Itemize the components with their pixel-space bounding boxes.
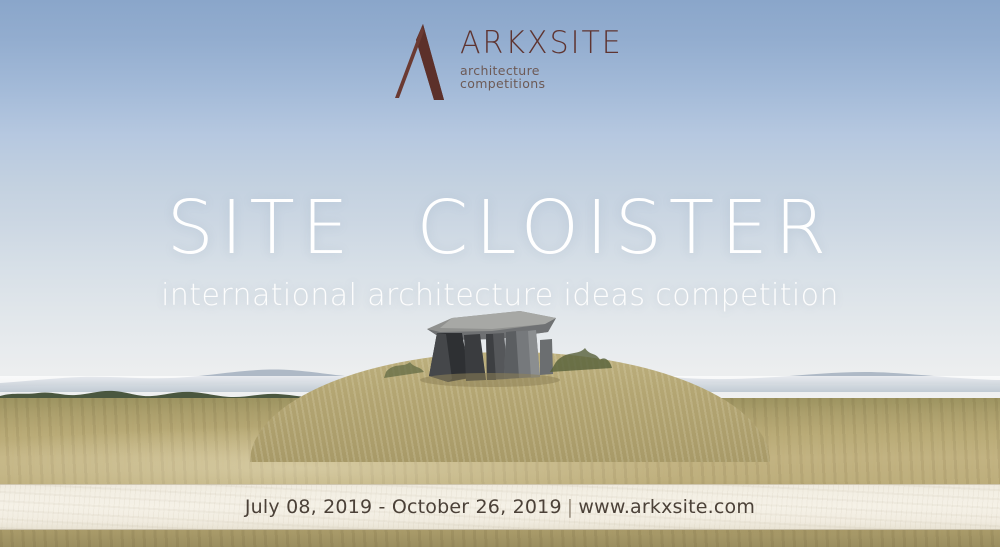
footer-text-line: July 08, 2019 - October 26, 2019|www.ark…	[245, 496, 755, 518]
headline-block: SITE CLOISTER international architecture…	[0, 191, 1000, 311]
brand-tagline: architecture competitions	[460, 65, 628, 90]
footer-divider: |	[562, 496, 579, 518]
page-subtitle: international architecture ideas competi…	[0, 281, 1000, 311]
date-range-separator: -	[372, 496, 392, 518]
arkxsite-logo[interactable]: ARKXSITE architecture competitions	[392, 22, 628, 104]
website-link[interactable]: www.arkxsite.com	[578, 496, 755, 518]
arkxsite-a-mark-icon	[392, 22, 454, 104]
competition-start-date: July 08, 2019	[245, 496, 372, 518]
logo-text-block: ARKXSITE architecture competitions	[460, 22, 628, 90]
competition-end-date: October 26, 2019	[392, 496, 562, 518]
footer-info-band: July 08, 2019 - October 26, 2019|www.ark…	[0, 484, 1000, 530]
poster-canvas: ARKXSITE architecture competitions SITE …	[0, 0, 1000, 547]
page-title: SITE CLOISTER	[0, 191, 1000, 265]
brand-wordmark: ARKXSITE	[460, 28, 628, 60]
